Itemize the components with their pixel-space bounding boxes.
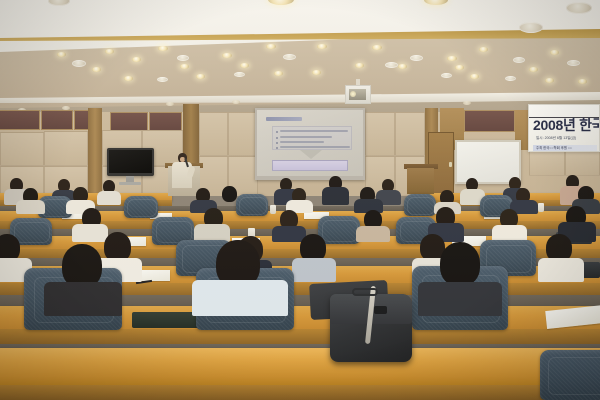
wall-panel <box>565 150 600 176</box>
slide-bullet-icon <box>276 147 278 149</box>
attendee-torso <box>538 258 584 282</box>
downlight-icon <box>317 44 327 49</box>
downlight-icon <box>283 54 296 60</box>
downlight-icon <box>312 70 321 75</box>
banner-subtitle: 일시: 2008년 6월 13일(금) <box>536 136 576 141</box>
attendee-head <box>440 242 480 286</box>
foreground-desk <box>0 348 600 386</box>
downlight-icon <box>424 0 448 5</box>
downlight-icon <box>567 60 580 66</box>
wall-panel <box>44 131 88 166</box>
downlight-icon <box>177 55 189 61</box>
downlight-icon <box>505 76 516 81</box>
bag-accessory <box>374 306 387 314</box>
downlight-icon <box>470 74 479 79</box>
downlight-icon <box>463 101 471 105</box>
slide-title-text <box>266 117 302 121</box>
attendee-torso <box>44 282 122 316</box>
downlight-icon <box>48 0 70 6</box>
downlight-icon <box>132 57 141 62</box>
downlight-icon <box>268 0 294 5</box>
downlight-icon <box>72 60 86 67</box>
downlight-icon <box>266 44 276 49</box>
slide-text-line <box>280 130 348 132</box>
slide-bullet-icon <box>276 142 278 144</box>
attendee-torso <box>72 224 108 242</box>
downlight-icon <box>447 56 457 61</box>
downlight-icon <box>479 47 488 52</box>
attendee-head <box>222 186 237 202</box>
slide-arrow-icon <box>300 150 322 159</box>
downlight-icon <box>222 53 232 58</box>
downlight-icon <box>455 65 464 70</box>
acoustic-panel <box>149 112 182 132</box>
attendee-torso <box>322 187 349 205</box>
slide-text-line <box>280 146 350 148</box>
downlight-icon <box>550 50 559 55</box>
wall-panel <box>365 112 395 156</box>
downlight-icon <box>180 64 189 69</box>
paper-cup <box>538 203 544 212</box>
chair[interactable] <box>236 194 268 216</box>
acoustic-panel <box>41 110 73 130</box>
acoustic-panel <box>0 110 40 130</box>
attendee-torso <box>16 200 45 214</box>
downlight-icon <box>158 46 168 51</box>
downlight-icon <box>372 45 382 50</box>
attendee-torso <box>97 191 121 205</box>
downlight-icon <box>529 67 538 72</box>
lectern <box>407 168 434 194</box>
downlight-icon <box>355 63 364 68</box>
wall-panel <box>529 150 565 176</box>
downlight-icon <box>240 63 249 68</box>
slide-body-block <box>272 126 352 150</box>
downlight-icon <box>513 57 525 63</box>
downlight-icon <box>196 74 205 79</box>
downlight-icon <box>166 102 174 106</box>
downlight-icon <box>566 2 592 14</box>
chair[interactable] <box>124 196 158 218</box>
attendee-torso <box>192 280 288 316</box>
wood-column <box>88 108 102 200</box>
downlight-icon <box>124 76 133 81</box>
attendee-torso <box>418 282 502 316</box>
bag-handle[interactable] <box>352 288 378 296</box>
downlight-icon <box>92 67 101 72</box>
downlight-icon <box>545 78 554 83</box>
wall-panel <box>0 132 44 166</box>
attendee-torso <box>292 258 336 282</box>
lecture-hall-photo: 2008년 한국 일시: 2008년 6월 13일(금) 주최 한국○○학회 후… <box>0 0 600 400</box>
monitor-base <box>119 182 141 185</box>
acoustic-panel <box>464 110 515 132</box>
downlight-icon <box>232 100 240 104</box>
slide-text-line <box>280 136 332 138</box>
slide-highlight-box <box>272 160 348 171</box>
downlight-icon <box>57 52 66 57</box>
chair[interactable] <box>404 194 436 216</box>
downlight-icon <box>234 72 245 77</box>
downlight-icon <box>410 55 423 61</box>
downlight-icon <box>441 73 452 78</box>
acoustic-panel <box>74 110 89 130</box>
slide-text-line <box>280 141 324 143</box>
downlight-icon <box>385 62 398 68</box>
downlight-icon <box>157 77 168 82</box>
wall-monitor-screen <box>109 150 152 173</box>
downlight-icon <box>398 64 407 69</box>
chair[interactable] <box>540 350 600 400</box>
slide-bullet-icon <box>276 137 278 139</box>
banner-title: 2008년 한국 <box>533 118 600 133</box>
desk-front-panel <box>0 385 600 400</box>
downlight-icon <box>519 22 543 33</box>
projector-lens-icon <box>350 91 356 97</box>
banner-footer-text: 주최 한국○○학회 후원 ○○ <box>536 146 572 151</box>
door-handle-icon <box>449 162 452 167</box>
attendee-torso <box>356 226 390 242</box>
wall-panel <box>199 112 228 156</box>
acoustic-panel <box>110 112 148 132</box>
event-banner: 2008년 한국 일시: 2008년 6월 13일(금) 주최 한국○○학회 후… <box>528 104 600 152</box>
desk-front-panel <box>0 329 600 345</box>
downlight-icon <box>274 71 283 76</box>
downlight-icon <box>578 79 587 84</box>
paper-cup <box>270 205 276 214</box>
wall-panel <box>395 112 425 156</box>
slide-bullet-icon <box>276 131 278 133</box>
wall-panel <box>228 112 258 156</box>
downlight-icon <box>105 49 114 54</box>
